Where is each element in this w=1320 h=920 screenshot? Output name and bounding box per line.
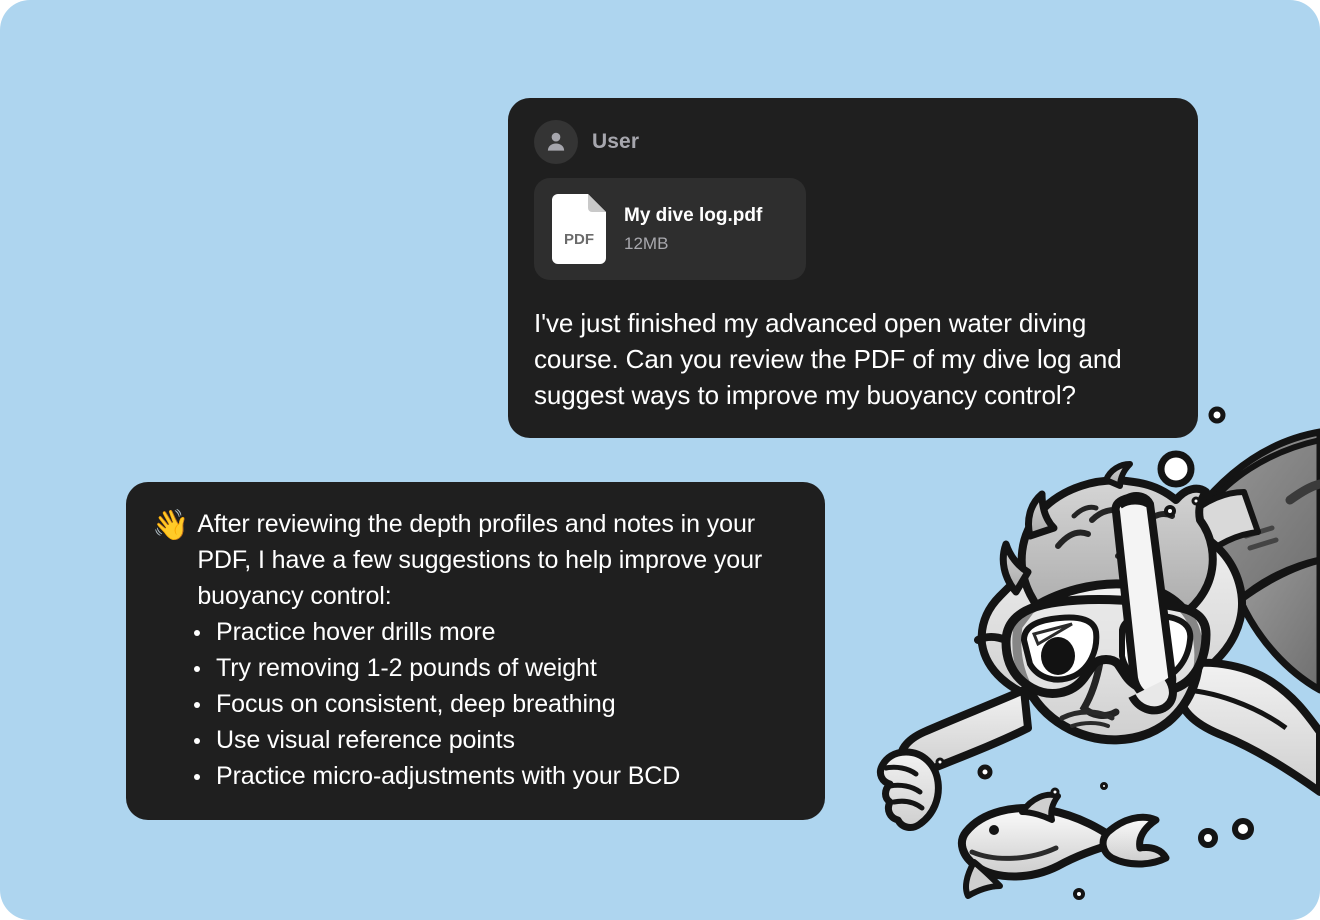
waving-hand-emoji: 👋 [152, 506, 189, 546]
assistant-intro: 👋 After reviewing the depth profiles and… [152, 506, 797, 614]
list-item: Try removing 1-2 pounds of weight [194, 650, 797, 686]
file-attachment-card[interactable]: PDF My dive log.pdf 12MB [534, 178, 806, 280]
chat-transcript: User PDF My dive log.pdf 12MB I've just … [0, 0, 1320, 920]
assistant-intro-text: After reviewing the depth profiles and n… [197, 506, 797, 614]
list-item: Practice hover drills more [194, 614, 797, 650]
file-name-label: My dive log.pdf [624, 205, 762, 227]
list-item: Practice micro-adjustments with your BCD [194, 758, 797, 794]
user-avatar-icon [534, 120, 578, 164]
suggestion-list: Practice hover drills more Try removing … [152, 614, 797, 794]
file-size-label: 12MB [624, 234, 762, 254]
list-item: Use visual reference points [194, 722, 797, 758]
pdf-file-icon: PDF [552, 194, 606, 264]
user-message-text: I've just finished my advanced open wate… [534, 306, 1172, 414]
file-meta: My dive log.pdf 12MB [624, 205, 762, 254]
assistant-message-bubble: 👋 After reviewing the depth profiles and… [126, 482, 825, 820]
user-message-header: User [534, 120, 1172, 164]
user-message-bubble: User PDF My dive log.pdf 12MB I've just … [508, 98, 1198, 438]
user-author-label: User [592, 130, 639, 154]
screen: User PDF My dive log.pdf 12MB I've just … [0, 0, 1320, 920]
list-item: Focus on consistent, deep breathing [194, 686, 797, 722]
pdf-icon-label: PDF [564, 231, 594, 248]
